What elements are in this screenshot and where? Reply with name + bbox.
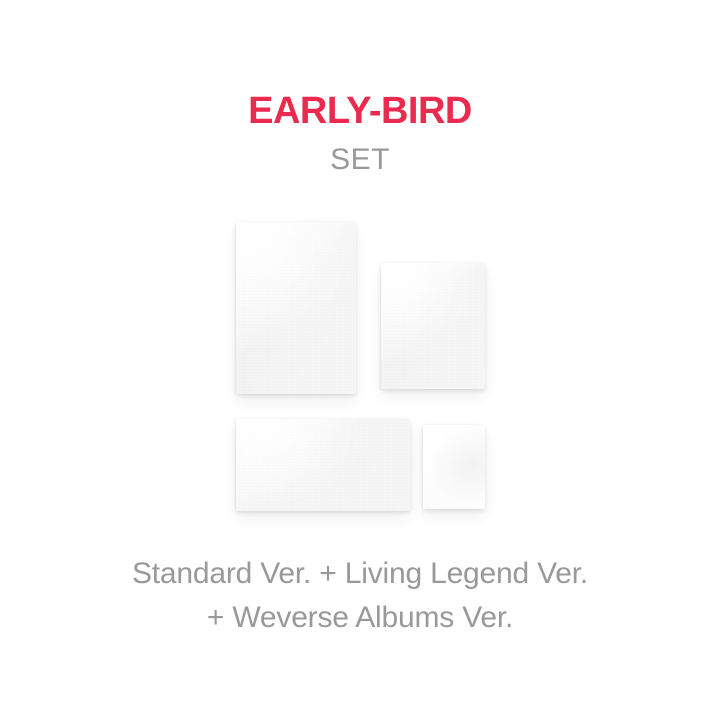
caption-line-1: Standard Ver. + Living Legend Ver.: [0, 552, 720, 596]
product-image-living-legend-version: [381, 263, 485, 389]
product-image-weverse-albums-version: [236, 419, 410, 511]
product-image-weverse-albums-card: [423, 425, 485, 509]
early-bird-set-promo-card: EARLY-BIRD SET Standard Ver. + Living Le…: [0, 0, 720, 720]
caption-line-2: + Weverse Albums Ver.: [0, 596, 720, 640]
product-set-caption: Standard Ver. + Living Legend Ver. + Wev…: [0, 552, 720, 640]
product-image-standard-version: [236, 222, 356, 394]
